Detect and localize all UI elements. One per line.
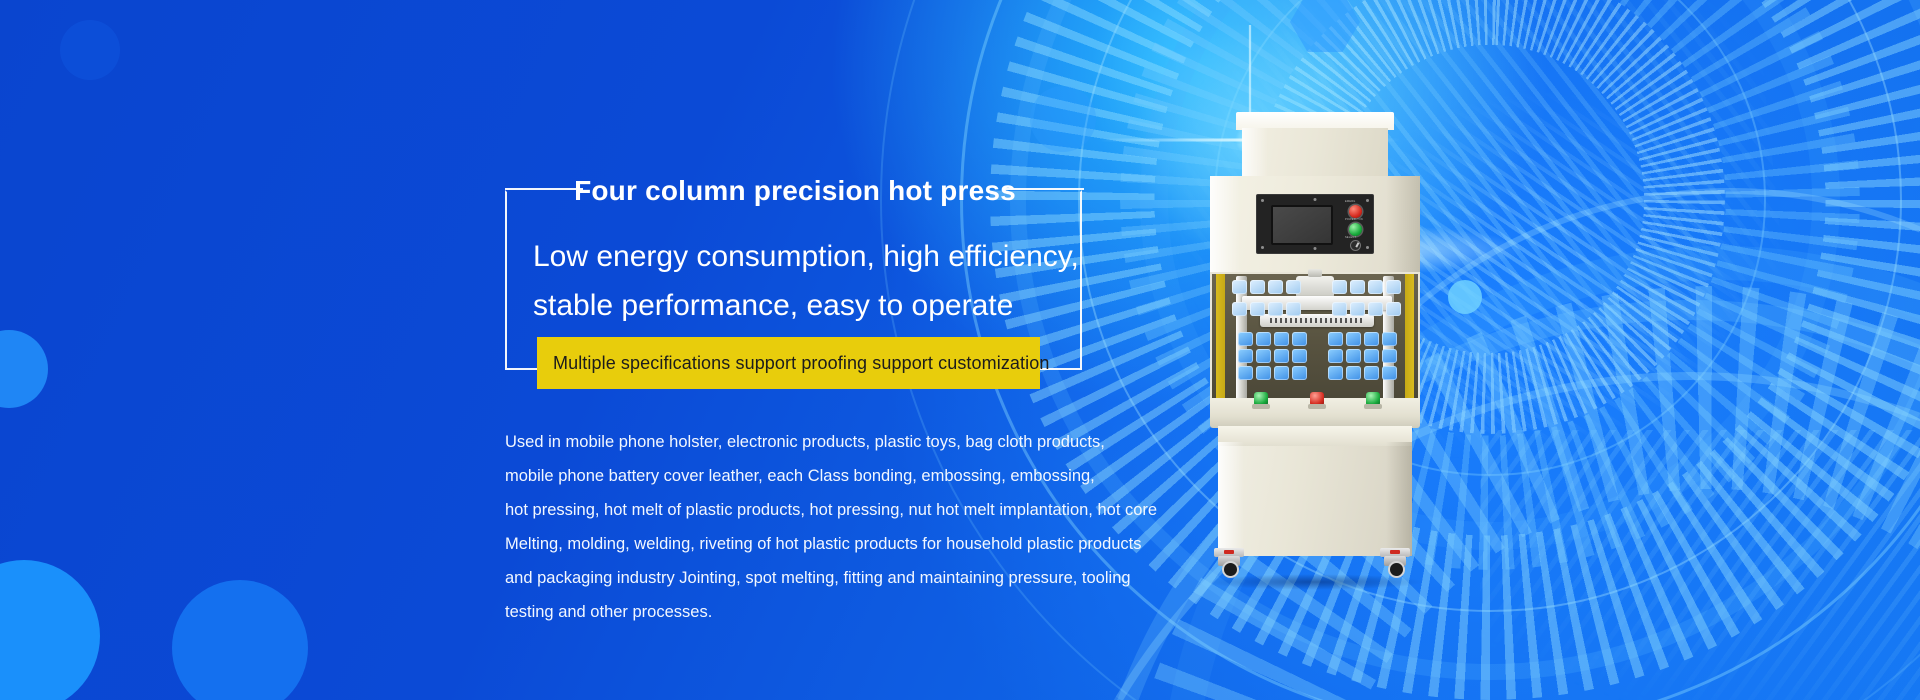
mold-cell bbox=[1382, 332, 1397, 346]
power-on-label: POWER / ON bbox=[1345, 218, 1363, 221]
mold-cell-upper bbox=[1332, 280, 1347, 294]
panel-screw bbox=[1366, 246, 1369, 249]
highlight-tag-box: Multiple specifications support proofing… bbox=[537, 337, 1040, 389]
mold-cell-upper bbox=[1350, 280, 1365, 294]
mold-cell bbox=[1274, 349, 1289, 363]
mold-cell bbox=[1364, 332, 1379, 346]
description-line-4: Melting, molding, welding, riveting of h… bbox=[505, 527, 1105, 561]
mold-cell bbox=[1292, 332, 1307, 346]
mold-cell bbox=[1328, 349, 1343, 363]
caster-brake bbox=[1390, 550, 1400, 554]
front-button-strip bbox=[1210, 398, 1420, 428]
highlight-tag-text: Multiple specifications support proofing… bbox=[537, 353, 1049, 374]
emergency-stop-button[interactable] bbox=[1349, 205, 1362, 218]
description-line-3: hot pressing, hot melt of plastic produc… bbox=[505, 493, 1105, 527]
subtitle-line-1: Low energy consumption, high efficiency, bbox=[533, 232, 1093, 281]
mold-cell bbox=[1292, 349, 1307, 363]
mold-cell bbox=[1238, 366, 1253, 380]
mold-cell bbox=[1364, 349, 1379, 363]
mold-cell-upper bbox=[1332, 302, 1347, 316]
mold-cell bbox=[1382, 349, 1397, 363]
mold-cell-upper bbox=[1250, 302, 1265, 316]
front-button-red[interactable] bbox=[1310, 392, 1324, 405]
description-paragraph: Used in mobile phone holster, electronic… bbox=[505, 425, 1105, 629]
lower-mold-cells bbox=[1238, 332, 1396, 382]
mold-cell bbox=[1238, 332, 1253, 346]
product-image-hot-press-machine: EMERG POWER / ON SELECT bbox=[1200, 112, 1430, 592]
mold-cell bbox=[1256, 332, 1271, 346]
mold-cell bbox=[1328, 332, 1343, 346]
mold-cell bbox=[1256, 349, 1271, 363]
caster-brake bbox=[1224, 550, 1234, 554]
hmi-touch-screen[interactable] bbox=[1271, 205, 1333, 245]
mold-cell-upper bbox=[1286, 302, 1301, 316]
mold-cell-upper bbox=[1368, 302, 1383, 316]
cabinet-shadow bbox=[1386, 442, 1412, 556]
mold-cell-upper bbox=[1386, 280, 1401, 294]
machine-ground-shadow bbox=[1206, 574, 1424, 590]
start-button[interactable] bbox=[1349, 223, 1362, 236]
bg-circle-right-small bbox=[1448, 280, 1482, 314]
mold-cell-upper bbox=[1232, 302, 1247, 316]
selector-label: SELECT bbox=[1345, 236, 1356, 239]
description-line-5: and packaging industry Jointing, spot me… bbox=[505, 561, 1105, 595]
mold-cell-upper bbox=[1386, 302, 1401, 316]
page-title: Four column precision hot press bbox=[505, 174, 1085, 208]
emergency-stop-label: EMERG bbox=[1345, 200, 1356, 203]
mold-cell bbox=[1346, 349, 1361, 363]
mold-cell-upper bbox=[1286, 280, 1301, 294]
mold-cell bbox=[1274, 366, 1289, 380]
cabinet-highlight bbox=[1218, 442, 1244, 556]
machine-main-shadow bbox=[1386, 176, 1420, 274]
description-line-2: mobile phone battery cover leather, each… bbox=[505, 459, 1105, 493]
panel-screw bbox=[1261, 246, 1264, 249]
mold-cell-upper bbox=[1232, 280, 1247, 294]
mold-cell bbox=[1346, 332, 1361, 346]
description-line-6: testing and other processes. bbox=[505, 595, 1105, 629]
machine-upper-highlight bbox=[1242, 128, 1268, 178]
mold-cell-upper bbox=[1268, 280, 1283, 294]
mold-cell bbox=[1292, 366, 1307, 380]
machine-main-highlight bbox=[1210, 176, 1240, 274]
front-button-green-left[interactable] bbox=[1254, 392, 1268, 405]
mold-cell bbox=[1364, 366, 1379, 380]
subtitle-line-2: stable performance, easy to operate bbox=[533, 281, 1093, 330]
mold-cell bbox=[1346, 366, 1361, 380]
description-line-1: Used in mobile phone holster, electronic… bbox=[505, 425, 1105, 459]
selector-knob[interactable] bbox=[1350, 240, 1361, 251]
mold-cell bbox=[1328, 366, 1343, 380]
mold-cell bbox=[1274, 332, 1289, 346]
copy-block: Four column precision hot press Low ener… bbox=[0, 0, 1120, 700]
mold-cell bbox=[1382, 366, 1397, 380]
panel-screw bbox=[1261, 199, 1264, 202]
panel-screw bbox=[1366, 199, 1369, 202]
mold-cell-upper bbox=[1250, 280, 1265, 294]
panel-screw bbox=[1314, 247, 1317, 250]
mold-cell-upper bbox=[1268, 302, 1283, 316]
diagonal-hatch-3 bbox=[1480, 430, 1920, 700]
chamber-guard-right bbox=[1405, 274, 1414, 398]
cabinet-top-lip bbox=[1218, 426, 1412, 446]
front-button-green-right[interactable] bbox=[1366, 392, 1380, 405]
panel-screw bbox=[1314, 198, 1317, 201]
subtitle: Low energy consumption, high efficiency,… bbox=[533, 232, 1093, 330]
upper-mold-cells bbox=[1232, 280, 1404, 324]
mold-cell bbox=[1238, 349, 1253, 363]
mold-cell bbox=[1256, 366, 1271, 380]
promo-banner: Four column precision hot press Low ener… bbox=[0, 0, 1920, 700]
control-panel[interactable]: EMERG POWER / ON SELECT bbox=[1256, 194, 1374, 254]
mold-cell-upper bbox=[1350, 302, 1365, 316]
mold-cell-upper bbox=[1368, 280, 1383, 294]
work-chamber bbox=[1210, 272, 1420, 400]
chamber-guard-left bbox=[1216, 274, 1225, 398]
